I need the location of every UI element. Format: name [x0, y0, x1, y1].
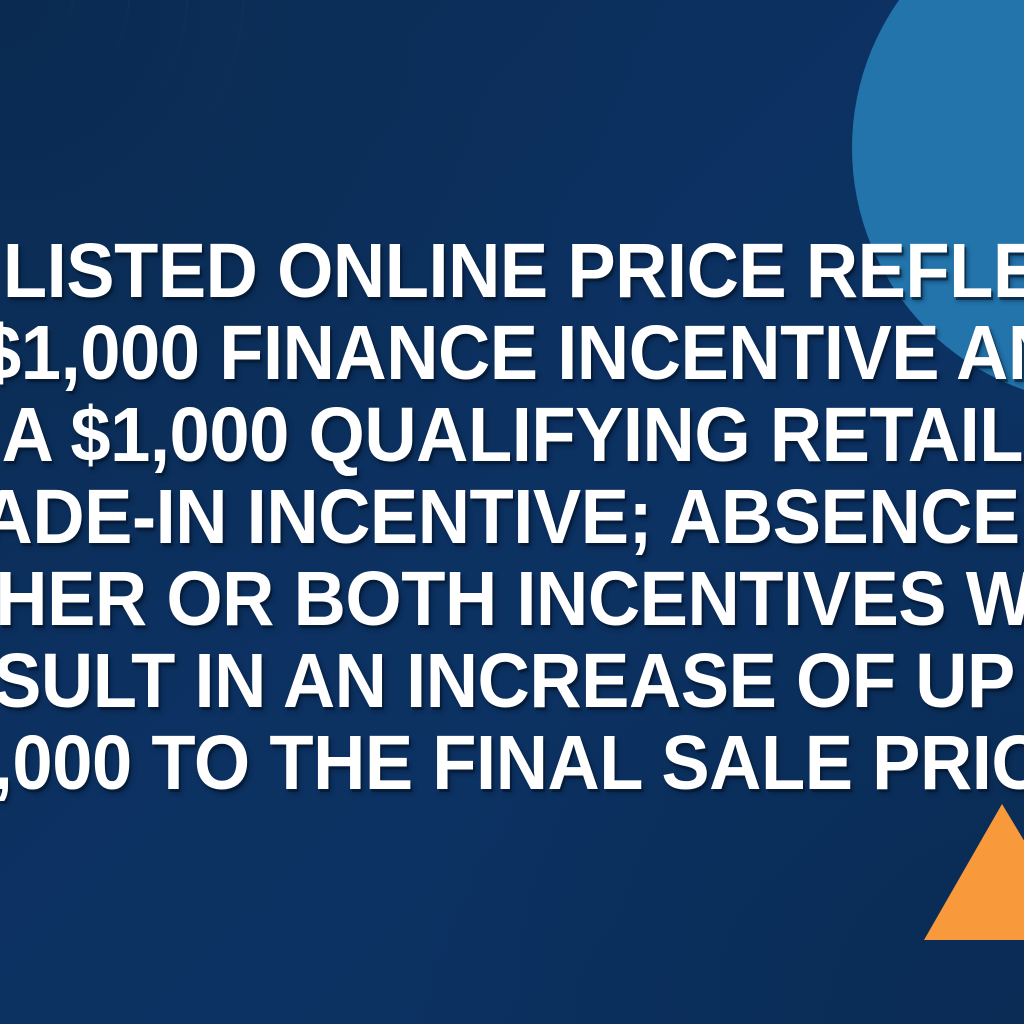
headline-line-5: EITHER OR BOTH INCENTIVES WILL [0, 558, 1024, 640]
disclaimer-headline: THE LISTED ONLINE PRICE REFLECTS A $1,00… [0, 0, 1024, 1024]
headline-line-4: TRADE-IN INCENTIVE; ABSENCE OF [0, 476, 1024, 558]
headline-line-2: A $1,000 FINANCE INCENTIVE AND [0, 312, 1024, 394]
promotional-disclaimer-graphic: THE LISTED ONLINE PRICE REFLECTS A $1,00… [0, 0, 1024, 1024]
headline-line-7: $2,000 TO THE FINAL SALE PRICE. [0, 722, 1024, 804]
headline-line-1: THE LISTED ONLINE PRICE REFLECTS [0, 230, 1024, 312]
headline-line-3: A $1,000 QUALIFYING RETAIL [1, 394, 1022, 476]
headline-line-6: RESULT IN AN INCREASE OF UP TO [0, 640, 1024, 722]
